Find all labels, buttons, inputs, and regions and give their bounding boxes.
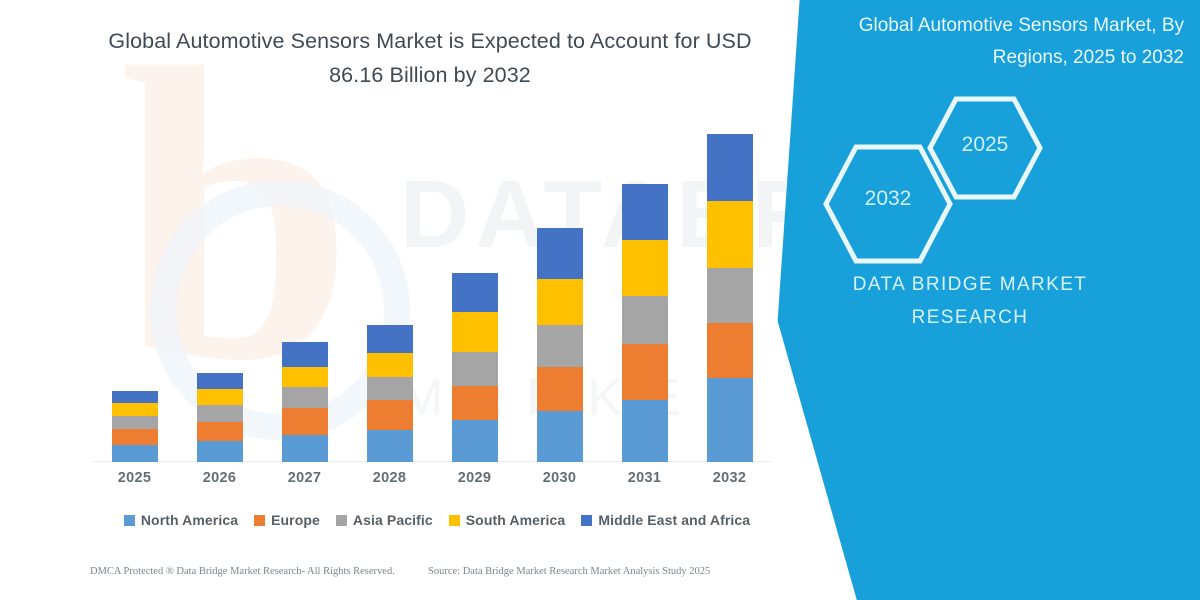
legend-label: Asia Pacific	[353, 512, 433, 528]
bar-segment[interactable]	[197, 389, 243, 405]
stacked-bar[interactable]	[112, 391, 158, 462]
legend-swatch-icon	[449, 515, 460, 526]
bar-segment[interactable]	[707, 323, 753, 379]
x-axis-tick: 2032	[687, 470, 772, 486]
legend-item[interactable]: Europe	[254, 512, 320, 528]
legend-item[interactable]: North America	[124, 512, 238, 528]
bar-segment[interactable]	[367, 400, 413, 430]
panel-brand-line1: DATA BRIDGE MARKET	[760, 268, 1180, 301]
bar-segment[interactable]	[112, 403, 158, 416]
hexagon-2032: 2032	[822, 143, 954, 265]
legend-swatch-icon	[336, 515, 347, 526]
legend-label: North America	[141, 512, 238, 528]
legend-label: Europe	[271, 512, 320, 528]
bar-slot	[432, 120, 517, 462]
bar-segment[interactable]	[112, 416, 158, 430]
bar-segment[interactable]	[367, 353, 413, 377]
stacked-bar[interactable]	[707, 134, 753, 462]
bar-segment[interactable]	[622, 400, 668, 462]
infographic-canvas: b DATABRIDGE MARKET RESEARCH Global Auto…	[0, 0, 1200, 600]
bar-slot	[92, 120, 177, 462]
bar-segment[interactable]	[282, 435, 328, 462]
x-axis-tick: 2025	[92, 470, 177, 486]
source-note: Source: Data Bridge Market Research Mark…	[428, 566, 710, 577]
stacked-bar[interactable]	[452, 273, 498, 462]
stacked-bar[interactable]	[537, 228, 583, 462]
bar-segment[interactable]	[537, 279, 583, 325]
legend-swatch-icon	[581, 515, 592, 526]
bar-slot	[177, 120, 262, 462]
bar-segment[interactable]	[452, 420, 498, 462]
x-axis-tick: 2030	[517, 470, 602, 486]
brand-panel: Global Automotive Sensors Market, By Reg…	[760, 0, 1200, 600]
x-axis-labels: 20252026202720282029203020312032	[92, 470, 772, 486]
bar-segment[interactable]	[707, 201, 753, 268]
chart-title: Global Automotive Sensors Market is Expe…	[80, 24, 780, 92]
legend-label: Middle East and Africa	[598, 512, 750, 528]
bar-segment[interactable]	[282, 387, 328, 408]
bar-segment[interactable]	[197, 405, 243, 422]
stacked-bar[interactable]	[282, 342, 328, 462]
bar-slot	[262, 120, 347, 462]
bar-segment[interactable]	[622, 240, 668, 296]
dmca-notice: DMCA Protected ® Data Bridge Market Rese…	[90, 566, 395, 577]
bar-segment[interactable]	[282, 342, 328, 367]
footer: DMCA Protected ® Data Bridge Market Rese…	[0, 566, 820, 596]
panel-brand-line2: RESEARCH	[760, 301, 1180, 334]
bar-segment[interactable]	[452, 312, 498, 352]
bar-segment[interactable]	[622, 296, 668, 344]
bar-segment[interactable]	[537, 411, 583, 462]
legend-swatch-icon	[124, 515, 135, 526]
bar-group	[92, 120, 772, 462]
chart-pane: b DATABRIDGE MARKET RESEARCH Global Auto…	[0, 0, 820, 600]
hexagon-2032-label: 2032	[822, 187, 954, 211]
legend-swatch-icon	[254, 515, 265, 526]
bar-segment[interactable]	[452, 273, 498, 312]
bar-slot	[687, 120, 772, 462]
bar-segment[interactable]	[622, 184, 668, 241]
x-axis-tick: 2028	[347, 470, 432, 486]
bar-segment[interactable]	[367, 325, 413, 352]
x-axis-tick: 2031	[602, 470, 687, 486]
stacked-bar[interactable]	[197, 373, 243, 462]
panel-brand: DATA BRIDGE MARKET RESEARCH	[760, 268, 1180, 334]
bar-segment[interactable]	[282, 408, 328, 435]
bar-segment[interactable]	[197, 373, 243, 389]
chart-legend: North AmericaEuropeAsia PacificSouth Ame…	[92, 512, 782, 528]
bar-segment[interactable]	[452, 352, 498, 386]
legend-label: South America	[466, 512, 566, 528]
bar-segment[interactable]	[537, 325, 583, 367]
stacked-bar[interactable]	[367, 325, 413, 462]
bar-segment[interactable]	[197, 422, 243, 441]
bar-segment[interactable]	[537, 228, 583, 279]
bar-segment[interactable]	[452, 386, 498, 420]
hexagon-group: 2025 2032	[808, 95, 1108, 255]
bar-slot	[347, 120, 432, 462]
legend-item[interactable]: South America	[449, 512, 566, 528]
panel-title: Global Automotive Sensors Market, By Reg…	[824, 10, 1184, 74]
plot-area	[92, 120, 772, 462]
bar-segment[interactable]	[707, 268, 753, 323]
bar-segment[interactable]	[112, 445, 158, 462]
x-axis-tick: 2027	[262, 470, 347, 486]
x-axis-tick: 2029	[432, 470, 517, 486]
legend-item[interactable]: Asia Pacific	[336, 512, 433, 528]
bar-segment[interactable]	[707, 134, 753, 201]
bar-segment[interactable]	[197, 441, 243, 462]
bar-segment[interactable]	[367, 377, 413, 400]
bar-segment[interactable]	[367, 430, 413, 462]
bar-segment[interactable]	[112, 429, 158, 444]
x-axis-tick: 2026	[177, 470, 262, 486]
bar-slot	[517, 120, 602, 462]
bar-segment[interactable]	[537, 367, 583, 411]
bar-segment[interactable]	[707, 378, 753, 462]
bar-segment[interactable]	[622, 344, 668, 400]
bar-segment[interactable]	[112, 391, 158, 403]
bar-slot	[602, 120, 687, 462]
stacked-bar[interactable]	[622, 184, 668, 462]
legend-item[interactable]: Middle East and Africa	[581, 512, 750, 528]
bar-segment[interactable]	[282, 367, 328, 387]
